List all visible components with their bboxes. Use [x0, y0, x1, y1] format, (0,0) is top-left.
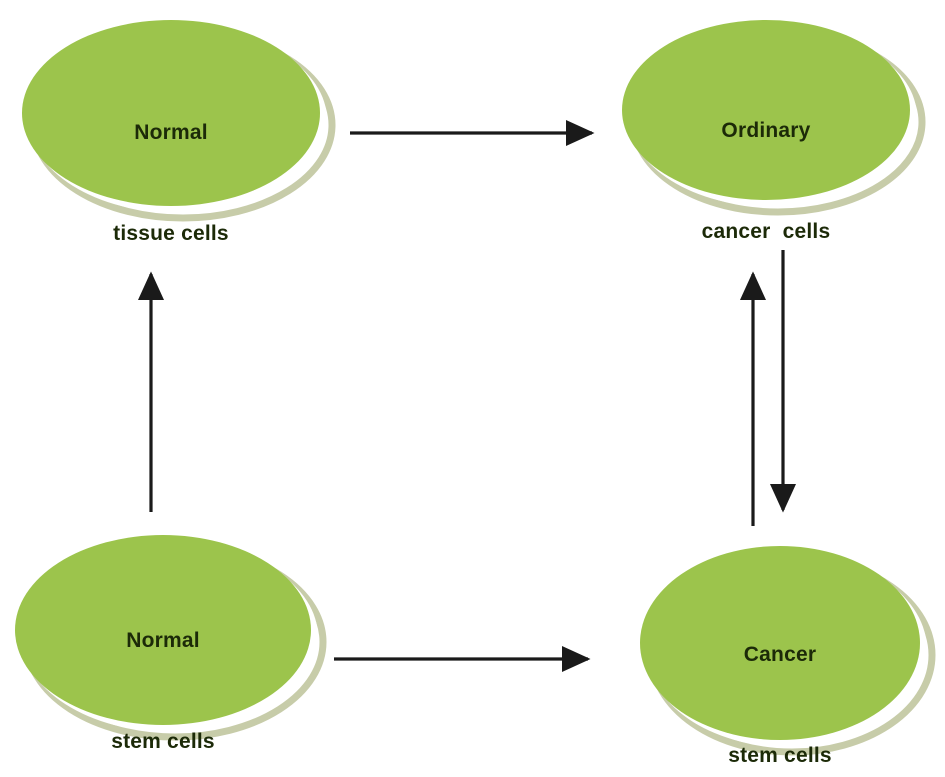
- node-hit-normal-stem-cells[interactable]: [15, 535, 311, 725]
- diagram-canvas: Normal tissue cells Ordinary cancer cell…: [0, 0, 945, 777]
- node-hit-cancer-stem-cells[interactable]: [640, 546, 920, 740]
- node-hit-normal-tissue-cells[interactable]: [22, 20, 320, 206]
- node-hit-ordinary-cancer-cells[interactable]: [622, 20, 910, 200]
